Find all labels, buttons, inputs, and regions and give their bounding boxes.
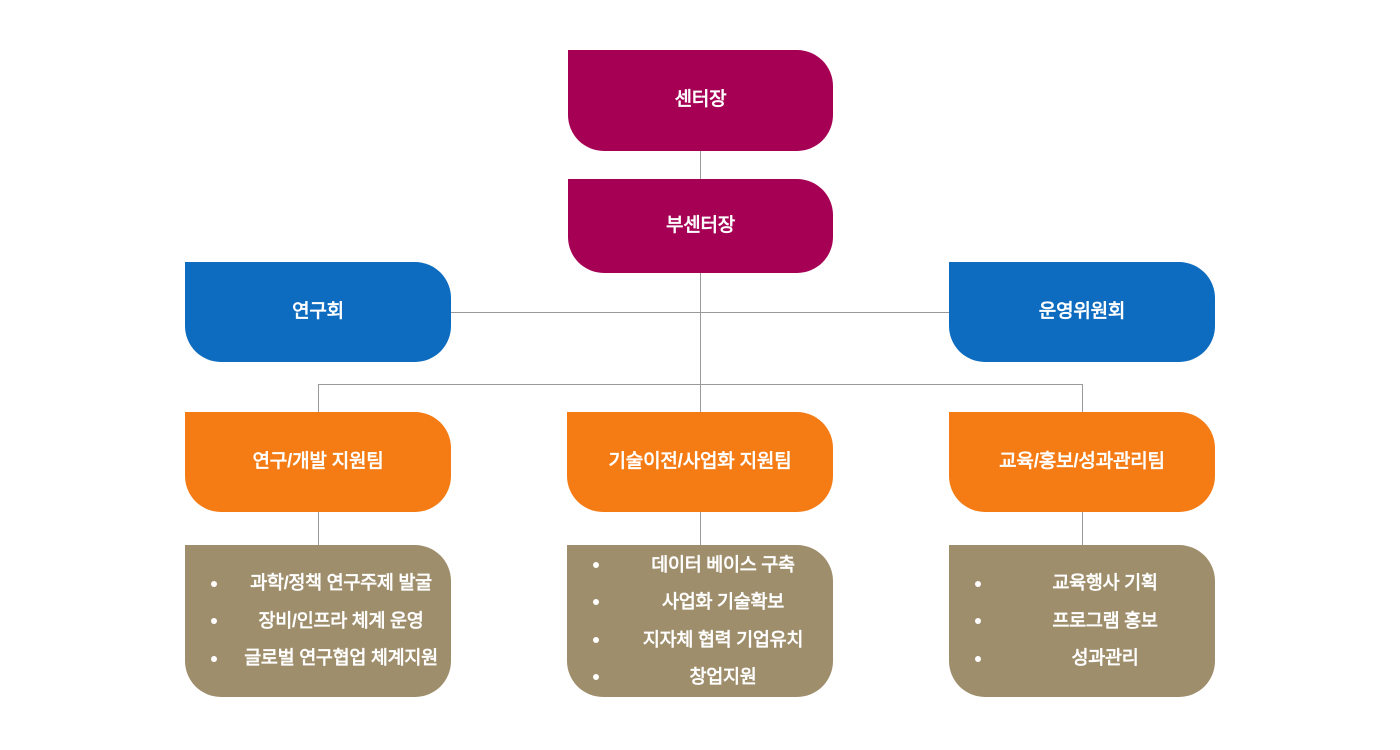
duty-item-label: 창업지원	[690, 666, 757, 687]
duty-item: 성과관리	[975, 649, 1215, 668]
duty-item-label: 과학/정책 연구주제 발굴	[250, 572, 432, 593]
node-team-education-pr[interactable]: 교육/홍보/성과관리팀	[949, 412, 1215, 512]
connector-committee-horizontal	[450, 312, 950, 313]
duty-item-label: 데이터 베이스 구축	[651, 554, 794, 575]
node-center-director[interactable]: 센터장	[568, 50, 833, 151]
duty-item: 데이터 베이스 구축	[593, 556, 833, 575]
duty-list-education-pr: 교육행사 기획 프로그램 홍보 성과관리	[949, 574, 1215, 668]
bullet-icon	[593, 674, 599, 680]
connector-drop-team-3	[1082, 384, 1083, 412]
bullet-icon	[975, 581, 981, 587]
node-research-society[interactable]: 연구회	[185, 262, 451, 362]
duty-item-label: 성과관리	[1072, 647, 1139, 668]
node-team-research-development-label: 연구/개발 지원팀	[252, 451, 383, 474]
duty-item-label: 지자체 협력 기업유치	[643, 629, 803, 650]
connector-director-to-deputy	[700, 150, 701, 180]
duties-box-education-pr: 교육행사 기획 프로그램 홍보 성과관리	[949, 545, 1215, 697]
connector-team-3-to-duties	[1082, 511, 1083, 545]
node-operating-committee-label: 운영위원회	[1039, 301, 1125, 324]
duty-item-label: 장비/인프라 체계 운영	[258, 610, 423, 631]
bullet-icon	[211, 656, 217, 662]
node-team-tech-transfer-label: 기술이전/사업화 지원팀	[609, 451, 792, 474]
bullet-icon	[975, 656, 981, 662]
duties-box-tech-transfer: 데이터 베이스 구축 사업화 기술확보 지자체 협력 기업유치 창업지원	[567, 545, 833, 697]
node-team-education-pr-label: 교육/홍보/성과관리팀	[999, 451, 1165, 474]
duty-item: 지자체 협력 기업유치	[593, 631, 833, 650]
node-team-tech-transfer[interactable]: 기술이전/사업화 지원팀	[567, 412, 833, 512]
duty-item: 글로벌 연구협업 체계지원	[211, 649, 451, 668]
connector-team-2-to-duties	[700, 511, 701, 545]
connector-drop-team-2	[700, 384, 701, 412]
duty-item-label: 사업화 기술확보	[662, 591, 784, 612]
duty-item: 장비/인프라 체계 운영	[211, 612, 451, 631]
duty-item-label: 교육행사 기획	[1052, 572, 1157, 593]
org-chart: 센터장 부센터장 연구회 운영위원회 연구/개발 지원팀 기술이전/사업화 지원…	[0, 0, 1400, 750]
connector-deputy-vertical-trunk	[700, 272, 701, 384]
bullet-icon	[211, 581, 217, 587]
connector-team-1-to-duties	[318, 511, 319, 545]
duty-list-research-development: 과학/정책 연구주제 발굴 장비/인프라 체계 운영 글로벌 연구협업 체계지원	[185, 574, 451, 668]
bullet-icon	[975, 618, 981, 624]
bullet-icon	[593, 637, 599, 643]
duty-item: 프로그램 홍보	[975, 612, 1215, 631]
connector-drop-team-1	[318, 384, 319, 412]
node-deputy-center-director-label: 부센터장	[666, 215, 735, 238]
node-center-director-label: 센터장	[675, 89, 727, 112]
bullet-icon	[211, 618, 217, 624]
duties-box-research-development: 과학/정책 연구주제 발굴 장비/인프라 체계 운영 글로벌 연구협업 체계지원	[185, 545, 451, 697]
duty-item-label: 글로벌 연구협업 체계지원	[244, 647, 438, 668]
node-team-research-development[interactable]: 연구/개발 지원팀	[185, 412, 451, 512]
node-operating-committee[interactable]: 운영위원회	[949, 262, 1215, 362]
duty-list-tech-transfer: 데이터 베이스 구축 사업화 기술확보 지자체 협력 기업유치 창업지원	[567, 556, 833, 687]
node-deputy-center-director[interactable]: 부센터장	[568, 179, 833, 273]
duty-item: 창업지원	[593, 668, 833, 687]
node-research-society-label: 연구회	[292, 301, 344, 324]
duty-item-label: 프로그램 홍보	[1052, 610, 1157, 631]
duty-item: 과학/정책 연구주제 발굴	[211, 574, 451, 593]
duty-item: 사업화 기술확보	[593, 593, 833, 612]
bullet-icon	[593, 562, 599, 568]
bullet-icon	[593, 599, 599, 605]
duty-item: 교육행사 기획	[975, 574, 1215, 593]
